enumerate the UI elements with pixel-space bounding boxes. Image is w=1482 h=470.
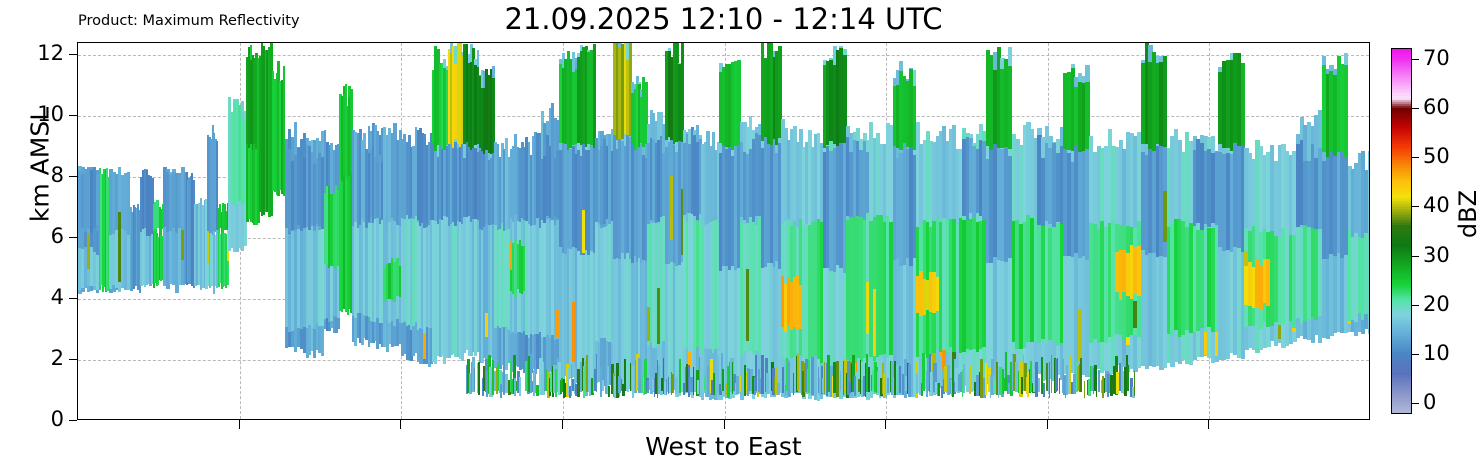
ground-clutter-cell	[1084, 381, 1086, 398]
ground-clutter-cell	[793, 373, 795, 395]
ground-clutter-cell	[883, 373, 885, 397]
ground-clutter-cell	[1035, 362, 1038, 397]
ground-clutter-cell	[868, 367, 870, 392]
y-axis-tick-label: 2	[20, 348, 64, 369]
ground-clutter-cell	[922, 353, 924, 391]
ground-clutter-cell	[1059, 378, 1061, 395]
ground-clutter-cell	[608, 386, 610, 397]
ground-clutter-cell	[938, 383, 940, 396]
ground-clutter-cell	[722, 369, 723, 391]
y-axis-tick-label: 4	[20, 287, 64, 308]
y-axis-tick-label: 0	[20, 409, 64, 430]
ground-clutter-cell	[1134, 371, 1135, 397]
y-axis-tick-label: 12	[20, 43, 64, 64]
ground-clutter-cell	[707, 366, 709, 397]
ground-clutter-cell	[916, 373, 918, 395]
ground-clutter-cell	[985, 363, 987, 395]
y-axis-tick	[69, 237, 77, 238]
colorbar-tick-label: 20	[1423, 294, 1450, 315]
colorbar-tick-label: 40	[1423, 195, 1450, 216]
ground-clutter-cell	[766, 373, 769, 395]
ground-clutter-cell	[811, 357, 813, 395]
ground-clutter-cell	[658, 365, 660, 394]
x-axis-tick	[400, 420, 401, 429]
ground-clutter-cell	[930, 372, 932, 392]
ground-clutter-cell	[1051, 355, 1053, 394]
ground-clutter-cell	[777, 383, 780, 395]
colorbar-tick	[1412, 403, 1419, 404]
y-axis-tick	[69, 176, 77, 177]
ground-clutter-cell	[647, 380, 649, 393]
x-axis-tick	[1047, 420, 1048, 429]
y-axis-tick	[69, 359, 77, 360]
ground-clutter-cell	[699, 357, 700, 395]
colorbar	[1391, 48, 1412, 414]
radar-cross-section-figure: Product: Maximum Reflectivity 21.09.2025…	[0, 0, 1482, 470]
colorbar-tick-label: 30	[1423, 245, 1450, 266]
colorbar-tick	[1412, 256, 1419, 257]
reflectivity-column	[1368, 43, 1370, 420]
ground-clutter-cell	[627, 379, 629, 392]
ground-clutter-cell	[815, 372, 817, 393]
x-axis-tick	[239, 420, 240, 429]
reflectivity-cell	[1368, 235, 1370, 321]
x-axis-tick	[724, 420, 725, 429]
ground-clutter-cell	[668, 377, 670, 395]
colorbar-label: dBZ	[1454, 154, 1482, 274]
ground-clutter-cell	[693, 367, 694, 395]
ground-clutter-cell	[632, 365, 634, 398]
x-axis-tick	[562, 420, 563, 429]
ground-clutter-cell	[1098, 370, 1100, 391]
ground-clutter-cell	[478, 362, 479, 395]
x-axis-tick	[885, 420, 886, 429]
colorbar-tick	[1412, 354, 1419, 355]
page-title: 21.09.2025 12:10 - 12:14 UTC	[77, 4, 1370, 36]
colorbar-tick-label: 60	[1423, 97, 1450, 118]
ground-clutter-cell	[602, 380, 604, 391]
colorbar-tick-label: 50	[1423, 146, 1450, 167]
y-axis-tick	[69, 420, 77, 421]
ground-clutter-cell	[963, 364, 965, 393]
ground-clutter-cell	[624, 359, 626, 391]
y-axis-label: km AMSL	[26, 85, 55, 245]
colorbar-segment	[1392, 411, 1411, 414]
colorbar-tick	[1412, 305, 1419, 306]
ground-clutter-cell	[474, 368, 476, 392]
x-axis-tick	[1208, 420, 1209, 429]
ground-clutter-cell	[713, 373, 715, 395]
ground-clutter-cell	[836, 361, 838, 396]
ground-clutter-cell	[908, 364, 910, 397]
ground-clutter-cell	[899, 366, 901, 393]
ground-clutter-cell	[854, 376, 856, 396]
y-axis-tick	[69, 115, 77, 116]
ground-clutter-cell	[1038, 378, 1039, 392]
ground-clutter-cell	[596, 354, 598, 392]
y-axis-tick	[69, 298, 77, 299]
colorbar-tick-label: 0	[1423, 392, 1436, 413]
ground-clutter-cell	[1043, 383, 1045, 398]
ground-clutter-cell	[797, 354, 799, 391]
ground-clutter-cell	[1080, 358, 1082, 392]
reflectivity-heatmap	[78, 43, 1369, 419]
colorbar-tick	[1412, 59, 1419, 60]
colorbar-tick-label: 70	[1423, 48, 1450, 69]
ground-clutter-cell	[741, 357, 742, 396]
plot-area	[77, 42, 1370, 420]
colorbar-tick	[1412, 108, 1419, 109]
ground-clutter-cell	[980, 359, 982, 398]
ground-clutter-cell	[788, 362, 790, 397]
ground-clutter-cell	[1127, 365, 1129, 391]
ground-clutter-cell	[840, 371, 842, 390]
colorbar-tick	[1412, 206, 1419, 207]
x-axis-label: West to East	[77, 432, 1370, 461]
colorbar-tick	[1412, 157, 1419, 158]
ground-clutter-cell	[679, 359, 681, 394]
ground-clutter-cell	[672, 374, 674, 392]
y-axis-tick	[69, 54, 77, 55]
ground-clutter-cell	[736, 376, 738, 394]
colorbar-tick-label: 10	[1423, 343, 1450, 364]
ground-clutter-cell	[519, 377, 521, 396]
